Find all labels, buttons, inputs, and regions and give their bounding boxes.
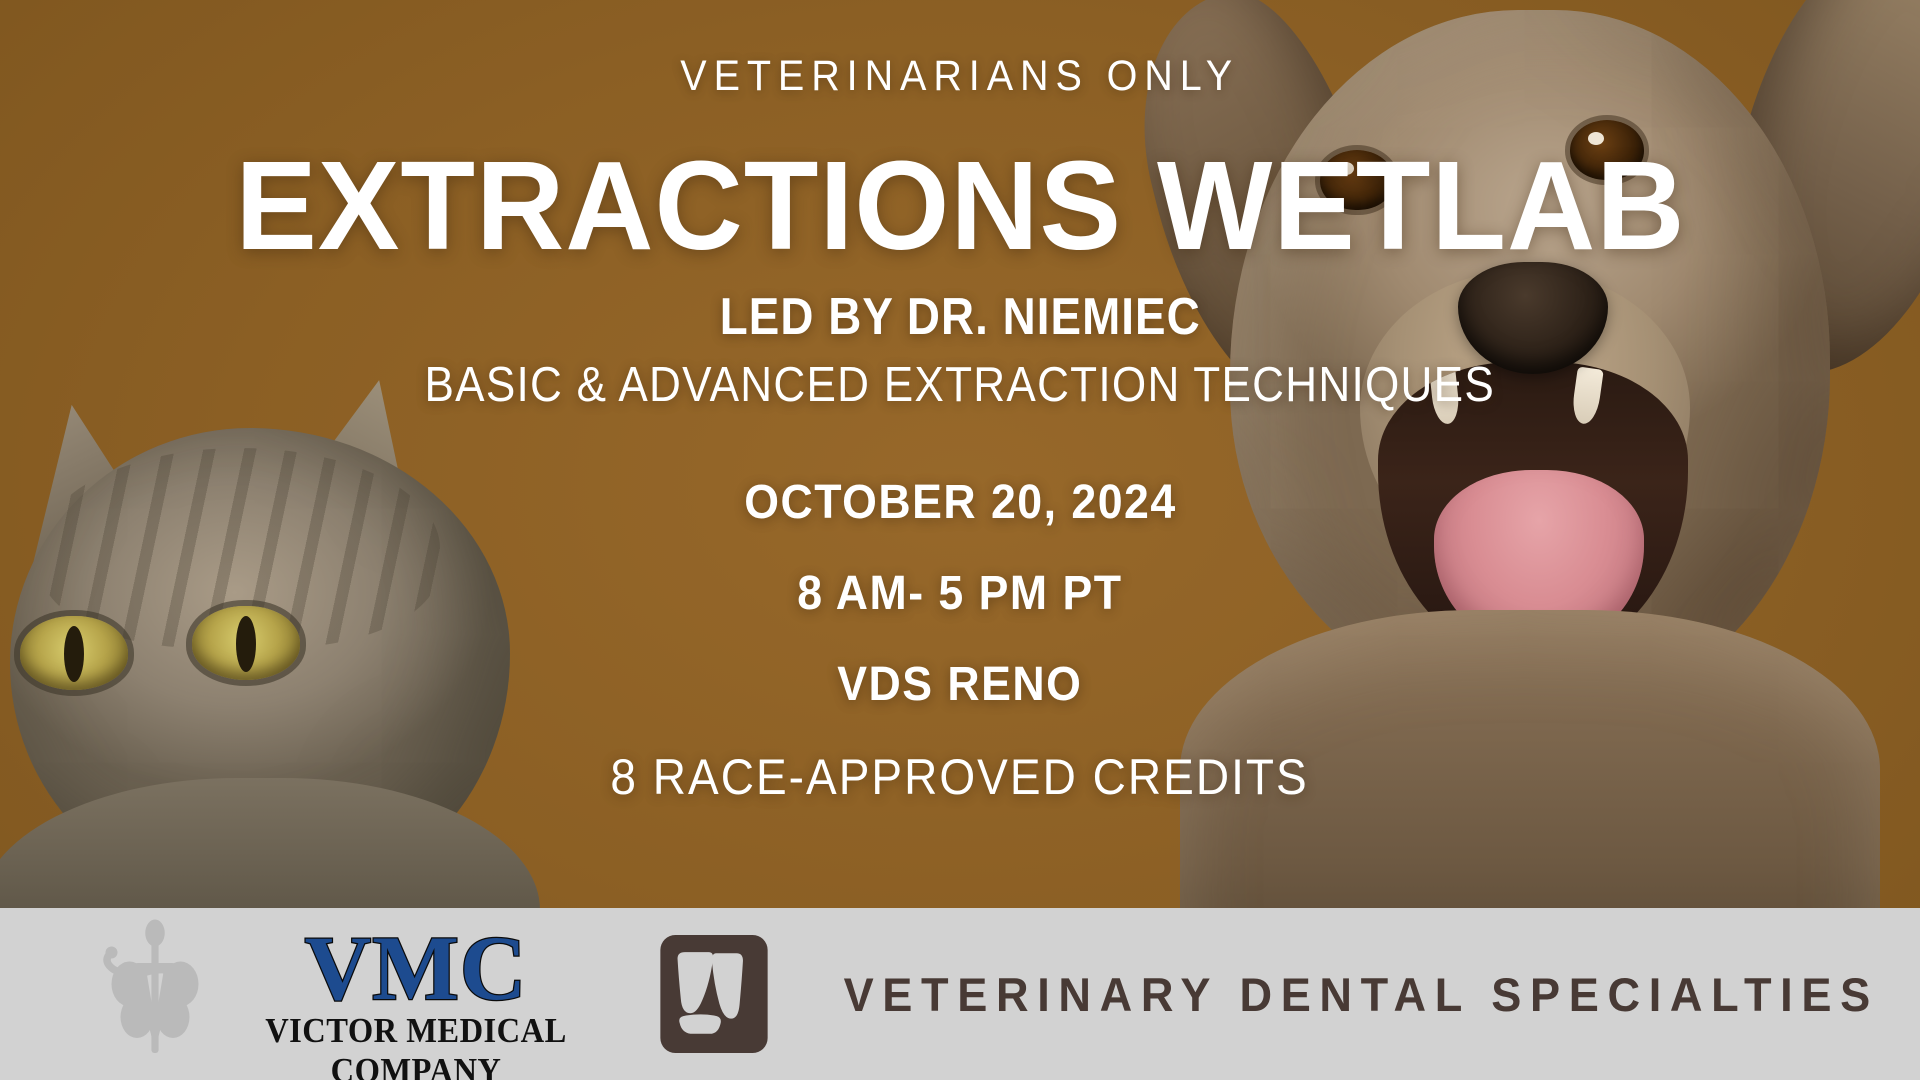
vmc-company-name: VICTOR MEDICAL COMPANY bbox=[230, 1011, 602, 1080]
event-credits: 8 RACE-APPROVED CREDITS bbox=[611, 748, 1309, 806]
page-title: EXTRACTIONS WETLAB bbox=[235, 143, 1685, 269]
event-time: 8 AM- 5 PM PT bbox=[797, 566, 1122, 621]
event-details: OCTOBER 20, 2024 8 AM- 5 PM PT VDS RENO … bbox=[580, 475, 1339, 806]
audience-eyebrow: VETERINARIANS ONLY bbox=[681, 52, 1240, 101]
promotional-poster: VETERINARIANS ONLY EXTRACTIONS WETLAB LE… bbox=[0, 0, 1920, 1080]
vmc-wordmark: VMC VICTOR MEDICAL COMPANY bbox=[216, 923, 616, 1080]
vmc-initials: VMC bbox=[216, 923, 616, 1013]
event-date: OCTOBER 20, 2024 bbox=[744, 475, 1176, 530]
topic-line: BASIC & ADVANCED EXTRACTION TECHNIQUES bbox=[425, 357, 1496, 413]
vds-wordmark: VETERINARY DENTAL SPECIALTIES bbox=[844, 967, 1879, 1022]
event-venue: VDS RENO bbox=[837, 657, 1082, 712]
sponsor-footer: VMC VICTOR MEDICAL COMPANY VETERINARY DE… bbox=[0, 908, 1920, 1080]
vmc-logo: VMC VICTOR MEDICAL COMPANY bbox=[58, 919, 618, 1069]
presenter-line: LED BY DR. NIEMIEC bbox=[720, 287, 1201, 347]
tooth-mark-icon bbox=[660, 935, 768, 1053]
caduceus-icon bbox=[80, 917, 230, 1069]
